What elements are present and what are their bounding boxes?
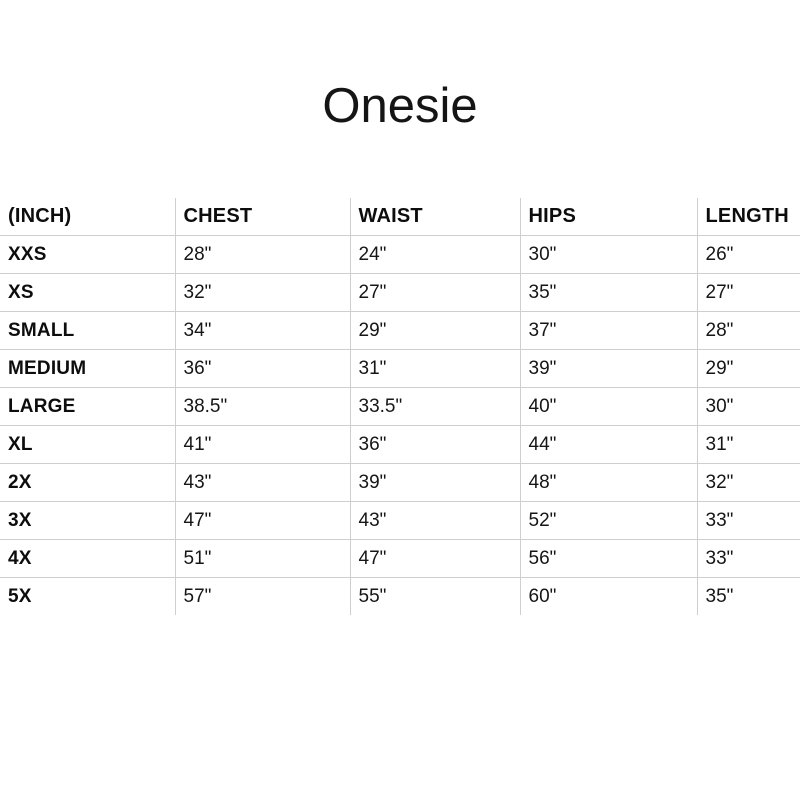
- cell-chest: 41": [175, 426, 350, 464]
- cell-waist: 36": [350, 426, 520, 464]
- cell-hips: 39": [520, 350, 697, 388]
- cell-size: XL: [0, 426, 175, 464]
- cell-chest: 47": [175, 502, 350, 540]
- cell-hips: 60": [520, 578, 697, 616]
- page-title: Onesie: [0, 78, 800, 134]
- cell-length: 32": [697, 464, 800, 502]
- column-header-size: (INCH): [0, 198, 175, 236]
- table-row: 4X 51" 47" 56" 33": [0, 540, 800, 578]
- column-header-chest: CHEST: [175, 198, 350, 236]
- table-row: SMALL 34" 29" 37" 28": [0, 312, 800, 350]
- cell-hips: 48": [520, 464, 697, 502]
- cell-length: 30": [697, 388, 800, 426]
- cell-chest: 57": [175, 578, 350, 616]
- table-body: XXS 28" 24" 30" 26" XS 32" 27" 35" 27" S…: [0, 236, 800, 616]
- cell-hips: 44": [520, 426, 697, 464]
- cell-chest: 38.5": [175, 388, 350, 426]
- cell-chest: 51": [175, 540, 350, 578]
- cell-waist: 24": [350, 236, 520, 274]
- cell-waist: 33.5": [350, 388, 520, 426]
- cell-waist: 43": [350, 502, 520, 540]
- cell-size: 2X: [0, 464, 175, 502]
- size-chart-table: (INCH) CHEST WAIST HIPS LENGTH XXS 28" 2…: [0, 198, 800, 615]
- cell-size: LARGE: [0, 388, 175, 426]
- table-row: MEDIUM 36" 31" 39" 29": [0, 350, 800, 388]
- cell-size: XS: [0, 274, 175, 312]
- cell-chest: 36": [175, 350, 350, 388]
- table-header-row: (INCH) CHEST WAIST HIPS LENGTH: [0, 198, 800, 236]
- cell-length: 29": [697, 350, 800, 388]
- cell-hips: 37": [520, 312, 697, 350]
- cell-waist: 39": [350, 464, 520, 502]
- table-header: (INCH) CHEST WAIST HIPS LENGTH: [0, 198, 800, 236]
- cell-size: XXS: [0, 236, 175, 274]
- column-header-waist: WAIST: [350, 198, 520, 236]
- cell-waist: 47": [350, 540, 520, 578]
- table-row: LARGE 38.5" 33.5" 40" 30": [0, 388, 800, 426]
- cell-chest: 34": [175, 312, 350, 350]
- cell-chest: 32": [175, 274, 350, 312]
- cell-hips: 35": [520, 274, 697, 312]
- cell-length: 26": [697, 236, 800, 274]
- table-row: XXS 28" 24" 30" 26": [0, 236, 800, 274]
- cell-hips: 30": [520, 236, 697, 274]
- cell-length: 35": [697, 578, 800, 616]
- size-chart-table-wrapper: (INCH) CHEST WAIST HIPS LENGTH XXS 28" 2…: [0, 198, 800, 615]
- cell-size: 5X: [0, 578, 175, 616]
- table-row: 5X 57" 55" 60" 35": [0, 578, 800, 616]
- cell-waist: 29": [350, 312, 520, 350]
- cell-size: 4X: [0, 540, 175, 578]
- table-row: 2X 43" 39" 48" 32": [0, 464, 800, 502]
- table-row: XL 41" 36" 44" 31": [0, 426, 800, 464]
- cell-hips: 40": [520, 388, 697, 426]
- cell-hips: 52": [520, 502, 697, 540]
- cell-chest: 43": [175, 464, 350, 502]
- cell-size: 3X: [0, 502, 175, 540]
- table-row: 3X 47" 43" 52" 33": [0, 502, 800, 540]
- cell-waist: 27": [350, 274, 520, 312]
- cell-size: MEDIUM: [0, 350, 175, 388]
- column-header-hips: HIPS: [520, 198, 697, 236]
- cell-size: SMALL: [0, 312, 175, 350]
- cell-length: 31": [697, 426, 800, 464]
- cell-length: 33": [697, 502, 800, 540]
- cell-waist: 31": [350, 350, 520, 388]
- cell-chest: 28": [175, 236, 350, 274]
- column-header-length: LENGTH: [697, 198, 800, 236]
- cell-hips: 56": [520, 540, 697, 578]
- cell-length: 33": [697, 540, 800, 578]
- cell-length: 28": [697, 312, 800, 350]
- size-chart-page: Onesie (INCH) CHEST WAIST HIPS LENGTH: [0, 0, 800, 800]
- table-row: XS 32" 27" 35" 27": [0, 274, 800, 312]
- cell-waist: 55": [350, 578, 520, 616]
- cell-length: 27": [697, 274, 800, 312]
